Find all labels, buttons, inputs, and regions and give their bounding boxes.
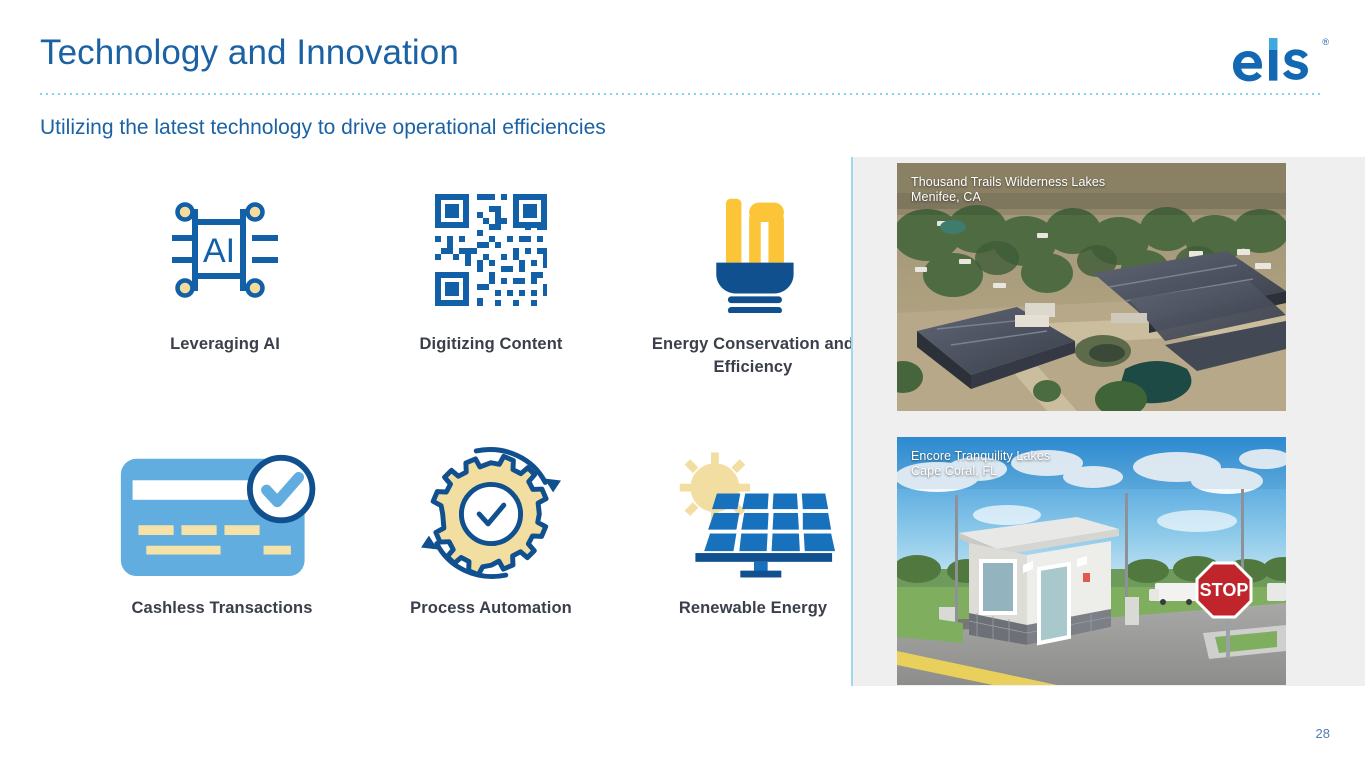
ai-chip-icon: AI (100, 175, 350, 325)
feature-label: Process Automation (366, 597, 616, 620)
qr-code-icon (366, 175, 616, 325)
page-number: 28 (1316, 726, 1330, 741)
feature-label: Cashless Transactions (97, 597, 347, 620)
feature-energy-conservation[interactable]: Energy Conservation and Efficiency (628, 175, 878, 379)
feature-icon-grid: AI Leveraging AI (40, 165, 830, 665)
page-subtitle: Utilizing the latest technology to drive… (40, 116, 606, 140)
feature-renewable-energy[interactable]: Renewable Energy (628, 439, 878, 620)
svg-text:AI: AI (203, 232, 235, 270)
photo-caption: Encore Tranquility Lakes Cape Coral, FL (911, 449, 1050, 480)
property-photo-panel: Thousand Trails Wilderness Lakes Menifee… (851, 157, 1365, 686)
lightbulb-icon (628, 175, 878, 325)
feature-label: Renewable Energy (628, 597, 878, 620)
registered-mark: ® (1322, 38, 1329, 47)
photo-caption: Thousand Trails Wilderness Lakes Menifee… (911, 175, 1105, 206)
feature-label: Digitizing Content (366, 333, 616, 356)
photo-thousand-trails: Thousand Trails Wilderness Lakes Menifee… (897, 163, 1286, 411)
solar-panel-sun-icon (628, 439, 878, 589)
svg-text:STOP: STOP (1200, 580, 1249, 600)
feature-label: Energy Conservation and Efficiency (628, 333, 878, 379)
credit-card-check-icon (97, 439, 347, 589)
els-logo (1229, 36, 1321, 82)
page-title: Technology and Innovation (40, 33, 459, 73)
gear-arrows-icon (366, 439, 616, 589)
photo-encore-tranquility: STOP Encore Tranquility Lakes Cape Coral… (897, 437, 1286, 685)
feature-label: Leveraging AI (100, 333, 350, 356)
feature-cashless-transactions[interactable]: Cashless Transactions (97, 439, 347, 620)
feature-leveraging-ai[interactable]: AI Leveraging AI (100, 175, 350, 356)
feature-digitizing-content[interactable]: Digitizing Content (366, 175, 616, 356)
title-divider (40, 93, 1321, 95)
feature-process-automation[interactable]: Process Automation (366, 439, 616, 620)
